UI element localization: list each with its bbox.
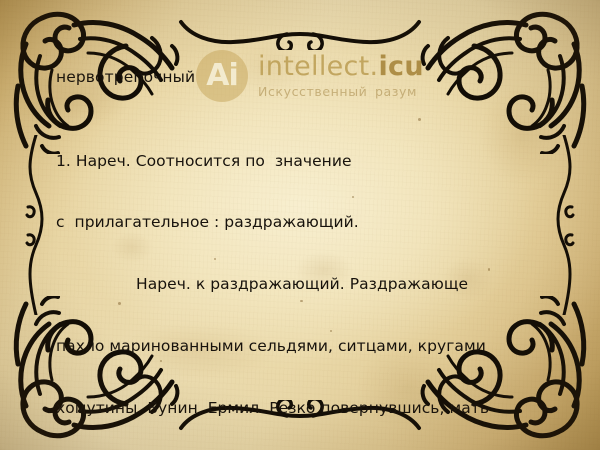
parchment-page: Ai intellect.icu Искусственный разум нер… bbox=[0, 0, 600, 450]
parchment-vignette bbox=[0, 0, 600, 450]
